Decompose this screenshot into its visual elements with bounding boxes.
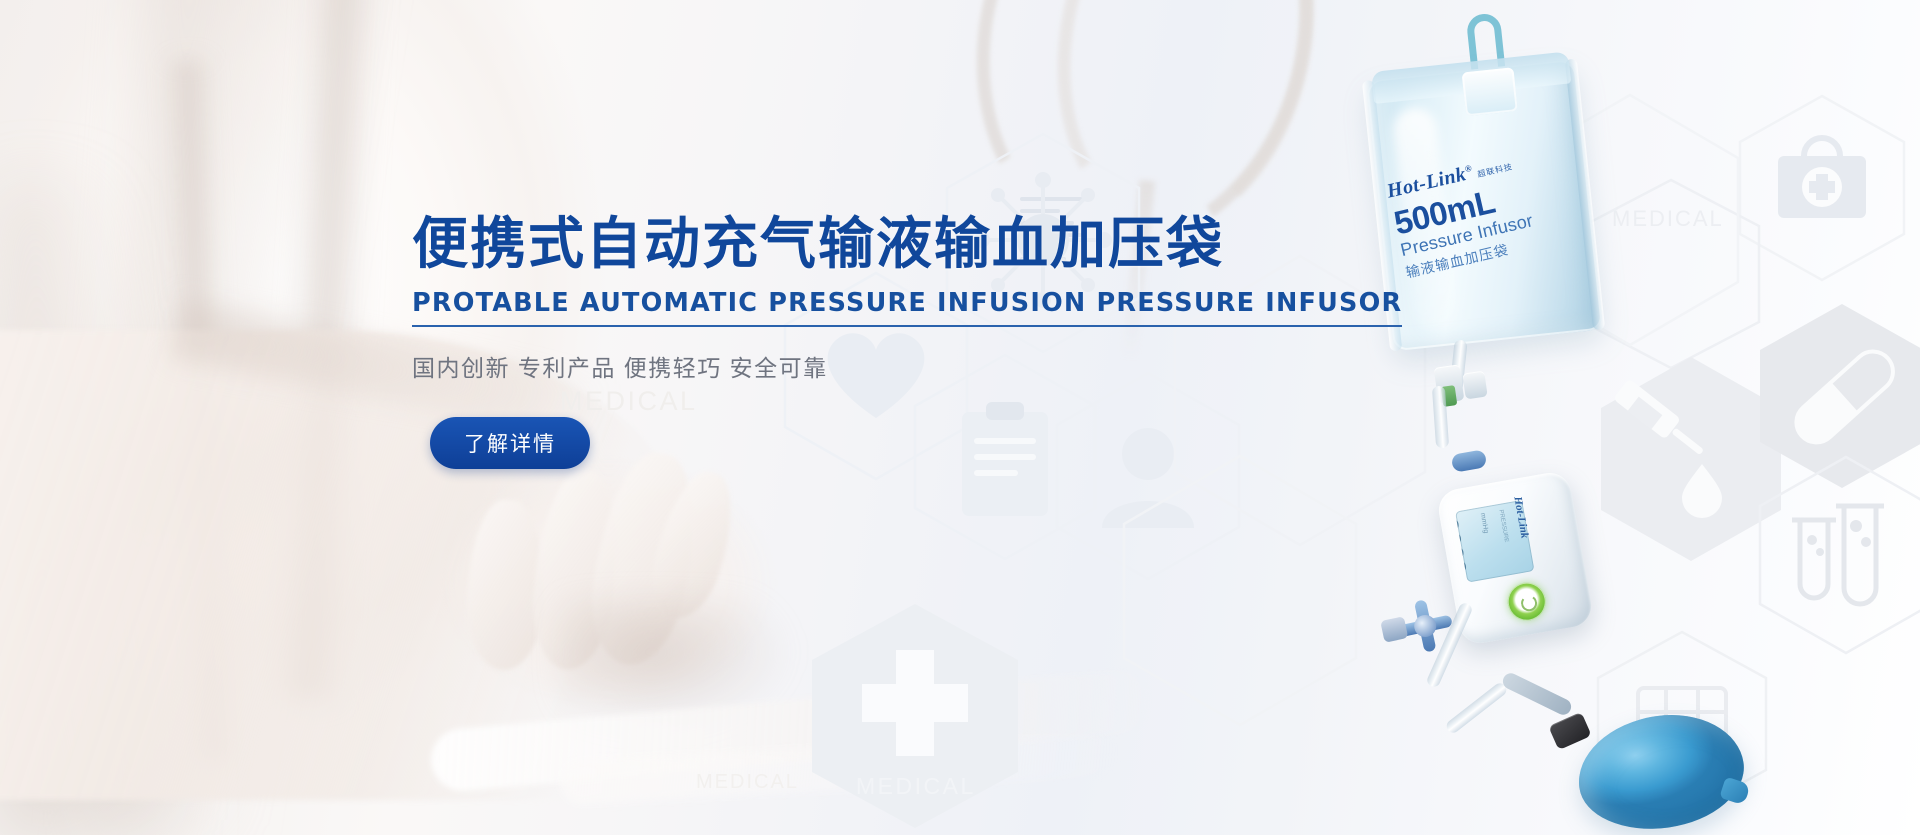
power-button-icon: [1505, 580, 1549, 624]
banner-content: 便携式自动充气输液输血加压袋 PROTABLE AUTOMATIC PRESSU…: [412, 214, 1112, 469]
lcd-unit: mmHg: [1479, 512, 1489, 534]
tube-connector: [1462, 371, 1487, 400]
learn-more-button[interactable]: 了解详情: [430, 417, 590, 469]
page-title: 便携式自动充气输液输血加压袋: [412, 214, 1112, 274]
lcd-status: PRESSURE: [1497, 509, 1509, 543]
feature-tagline: 国内创新 专利产品 便携轻巧 安全可靠: [412, 349, 1112, 383]
banner-subtitle: PROTABLE AUTOMATIC PRESSURE INFUSION PRE…: [412, 288, 1402, 327]
inflation-bulb: [1571, 705, 1751, 835]
lcd-value: 8888: [1455, 517, 1470, 577]
hero-banner: MEDICAL MEDICAL: [0, 0, 1920, 835]
registered-mark-icon: ®: [1464, 163, 1473, 174]
bulb-hose: [1500, 671, 1574, 718]
blue-clamp: [1451, 449, 1488, 473]
stopcock-port: [1380, 616, 1408, 643]
iv-tube: [1444, 681, 1509, 736]
bag-brand-chinese: 超联科技: [1477, 162, 1514, 179]
bulb-release-valve: [1548, 712, 1591, 750]
bag-port: [1462, 67, 1518, 116]
